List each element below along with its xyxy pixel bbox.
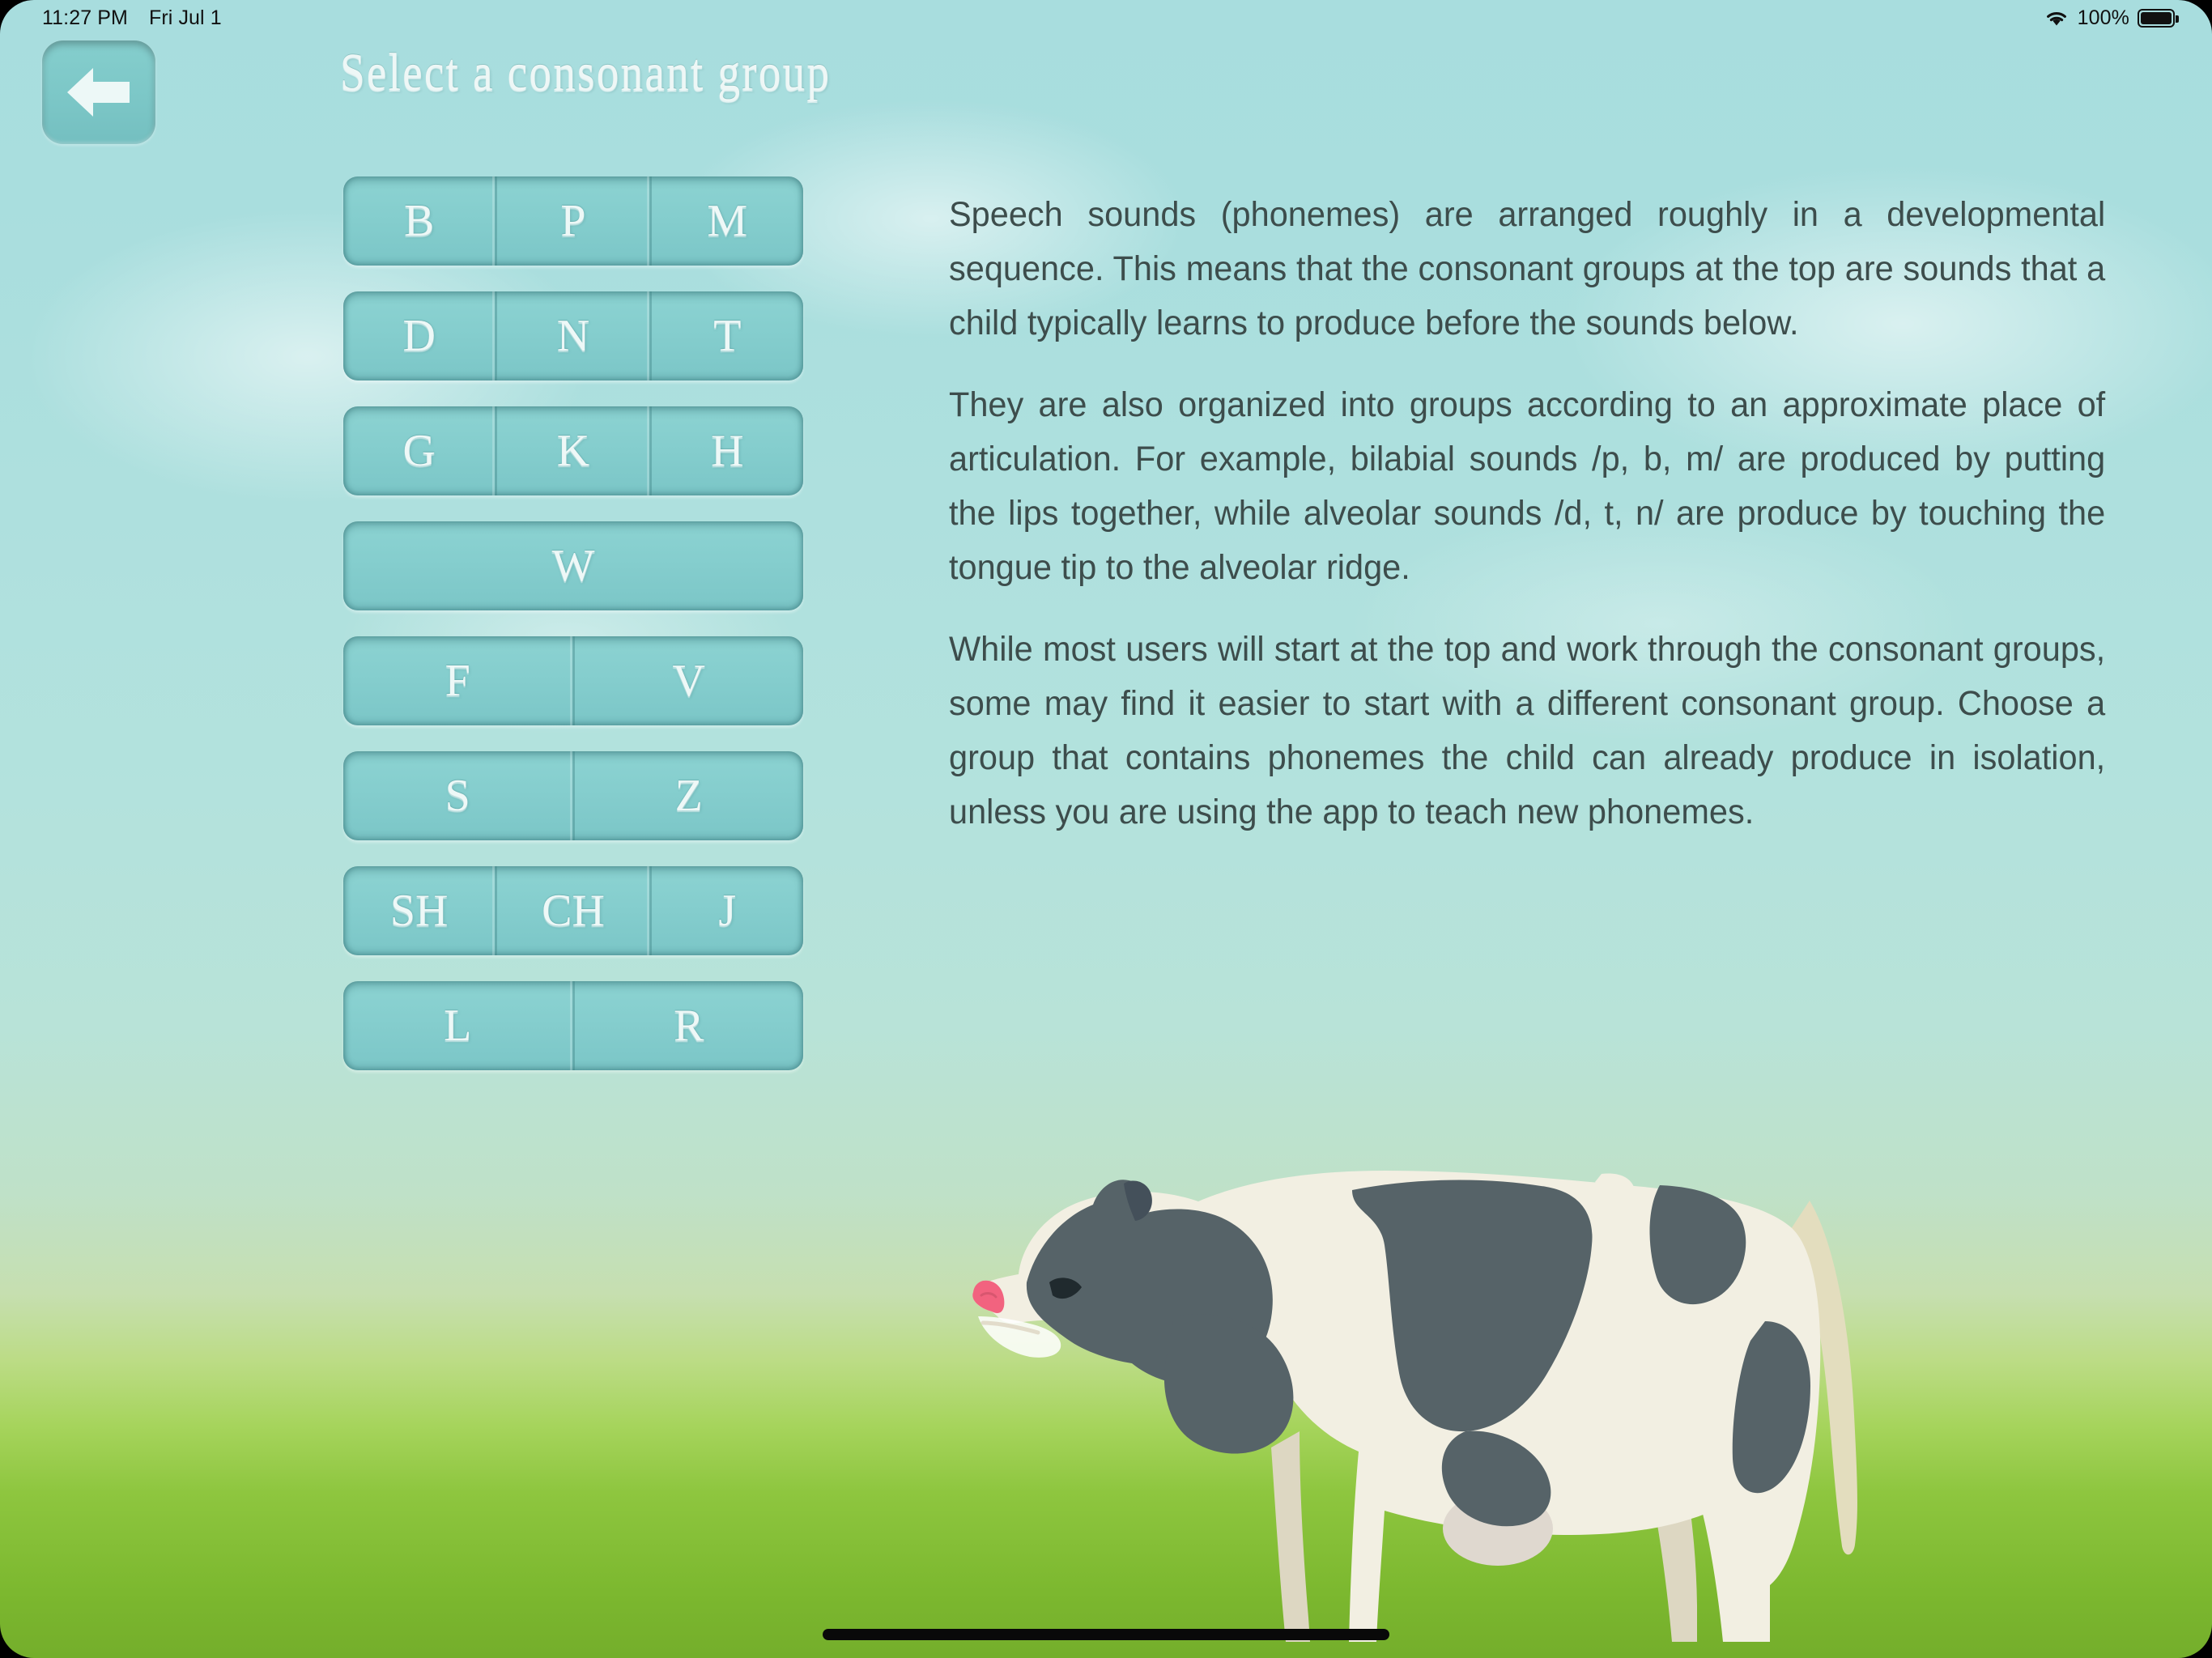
status-time: 11:27 PM: [42, 6, 128, 30]
group-key-d[interactable]: D: [343, 291, 495, 380]
group-key-z[interactable]: Z: [572, 751, 804, 840]
group-key-s[interactable]: S: [343, 751, 572, 840]
back-button[interactable]: [42, 40, 155, 144]
group-key-r[interactable]: R: [572, 981, 804, 1070]
app-screen: 11:27 PM Fri Jul 1 100% Select a: [0, 0, 2212, 1658]
status-bar-left: 11:27 PM Fri Jul 1: [42, 6, 222, 30]
group-row: S Z: [343, 751, 803, 840]
group-key-f[interactable]: F: [343, 636, 572, 725]
home-indicator[interactable]: [823, 1629, 1389, 1640]
info-paragraph-2: They are also organized into groups acco…: [949, 378, 2105, 595]
group-key-ch[interactable]: CH: [495, 866, 649, 955]
group-key-h[interactable]: H: [649, 406, 803, 495]
group-key-v[interactable]: V: [572, 636, 804, 725]
group-key-sh[interactable]: SH: [343, 866, 495, 955]
group-key-k[interactable]: K: [495, 406, 649, 495]
group-row: G K H: [343, 406, 803, 495]
group-key-j[interactable]: J: [649, 866, 803, 955]
group-row: W: [343, 521, 803, 610]
group-key-g[interactable]: G: [343, 406, 495, 495]
group-key-w[interactable]: W: [343, 521, 803, 610]
group-key-n[interactable]: N: [495, 291, 649, 380]
group-key-p[interactable]: P: [495, 176, 649, 266]
group-row: SH CH J: [343, 866, 803, 955]
status-bar-right: 100%: [2044, 6, 2175, 30]
left-arrow-icon: [65, 62, 133, 122]
group-key-l[interactable]: L: [343, 981, 572, 1070]
cow-illustration: [931, 1124, 1911, 1658]
status-date: Fri Jul 1: [149, 6, 222, 30]
info-panel: Speech sounds (phonemes) are arranged ro…: [949, 188, 2147, 840]
status-bar: 11:27 PM Fri Jul 1 100%: [0, 0, 2212, 36]
group-row: F V: [343, 636, 803, 725]
group-row: L R: [343, 981, 803, 1070]
wifi-icon: [2044, 8, 2069, 28]
info-paragraph-1: Speech sounds (phonemes) are arranged ro…: [949, 188, 2105, 351]
page-title: Select a consonant group: [340, 42, 831, 104]
group-row: B P M: [343, 176, 803, 266]
group-key-b[interactable]: B: [343, 176, 495, 266]
group-row: D N T: [343, 291, 803, 380]
battery-full-icon: [2138, 9, 2175, 28]
group-key-m[interactable]: M: [649, 176, 803, 266]
info-paragraph-3: While most users will start at the top a…: [949, 623, 2105, 840]
battery-percent: 100%: [2078, 6, 2129, 30]
group-key-t[interactable]: T: [649, 291, 803, 380]
consonant-group-list: B P M D N T G K H W F V S Z SH CH J: [343, 176, 803, 1070]
